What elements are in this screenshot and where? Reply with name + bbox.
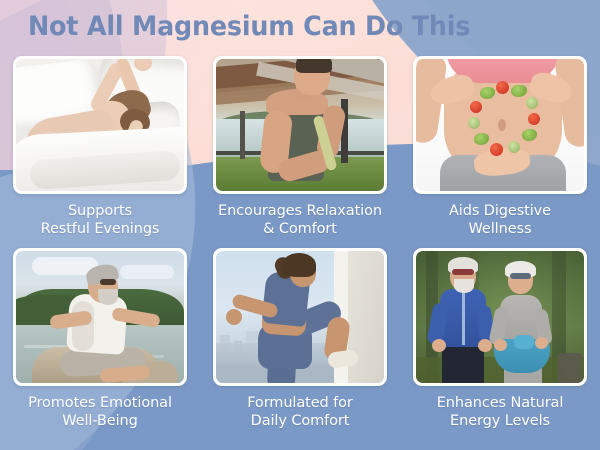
sunglasses-icon [100,279,116,285]
caption-line-1: Encourages Relaxation [207,203,393,221]
caption-line-2: Well-Being [7,413,193,431]
photo-belly-vegetables [416,59,584,191]
photo-card [413,56,587,194]
man-pants [442,343,484,383]
cucumber-icon [468,117,480,129]
benefit-caption: Formulated for Daily Comfort [207,395,393,430]
hand [226,309,242,325]
benefit-caption: Enhances Natural Energy Levels [407,395,593,430]
benefit-card-restful-evenings: Supports Restful Evenings [0,56,200,238]
man-sunglasses-icon [452,269,474,275]
benefit-card-digestive-wellness: Aids Digestive Wellness [400,56,600,238]
benefit-card-emotional-well-being: Promotes Emotional Well-Being [0,248,200,430]
benefit-caption: Supports Restful Evenings [7,203,193,238]
photo-man-resistance-band [216,59,384,191]
trail-bin [558,353,582,383]
photo-woman-stretching [216,251,384,383]
caption-line-2: & Comfort [207,221,393,239]
magnesium-benefits-poster: Not All Magnesium Can Do This [0,0,600,450]
caption-line-1: Promotes Emotional [7,395,193,413]
photo-card [213,56,387,194]
tomato-icon [528,113,540,125]
navel [498,119,506,131]
cloud-secondary [120,265,174,279]
benefit-card-natural-energy: Enhances Natural Energy Levels [400,248,600,430]
photo-man-meditating [16,251,184,383]
post-left [240,111,245,159]
photo-senior-couple-jogging [416,251,584,383]
cucumber-icon [526,97,538,109]
benefit-card-relaxation-comfort: Encourages Relaxation & Comfort [200,56,400,238]
woman-jacket-knot [514,335,534,349]
caption-line-2: Daily Comfort [207,413,393,431]
caption-line-2: Wellness [407,221,593,239]
benefit-caption: Promotes Emotional Well-Being [7,395,193,430]
caption-line-2: Energy Levels [407,413,593,431]
caption-line-1: Formulated for [207,395,393,413]
caption-line-1: Enhances Natural [407,395,593,413]
cucumber-icon [508,141,520,153]
photo-card [13,248,187,386]
tomato-icon [470,101,482,113]
tomato-icon [496,81,509,94]
photo-card [213,248,387,386]
hair [282,253,316,277]
caption-line-2: Restful Evenings [7,221,193,239]
photo-card [413,248,587,386]
caption-line-1: Aids Digestive [407,203,593,221]
benefit-card-daily-comfort: Formulated for Daily Comfort [200,248,400,430]
jacket-zipper [462,291,465,345]
man-left-hand [432,339,446,352]
woman-glasses-icon [510,273,531,279]
benefit-caption: Aids Digestive Wellness [407,203,593,238]
beard [98,289,118,305]
woman-right-hand [535,337,548,349]
benefits-grid: Supports Restful Evenings [0,56,600,430]
benefit-caption: Encourages Relaxation & Comfort [207,203,393,238]
hair [296,59,332,73]
man-beard [454,279,474,293]
photo-card [13,56,187,194]
photo-sleeping-woman [16,59,184,191]
caption-line-1: Supports [7,203,193,221]
page-title: Not All Magnesium Can Do This [28,11,470,43]
woman-left-hand [494,339,507,351]
tomato-icon [490,143,503,156]
